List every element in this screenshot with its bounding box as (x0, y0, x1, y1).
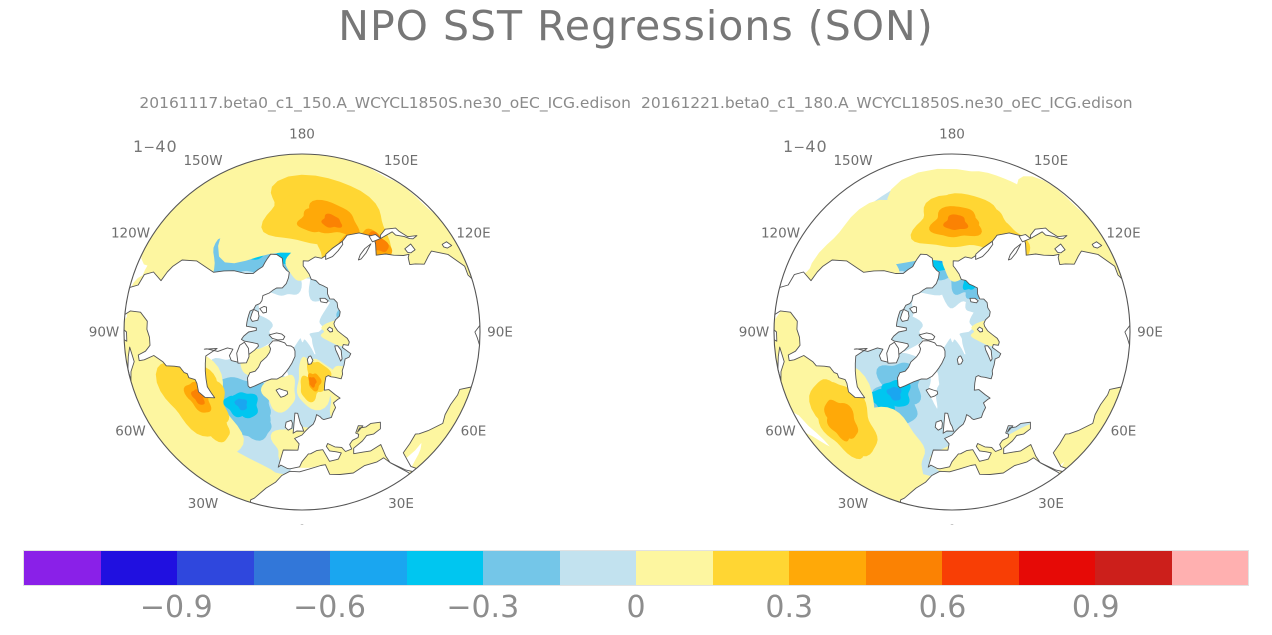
colorbar-swatch-2 (177, 551, 254, 585)
colorbar-swatch-7 (560, 551, 637, 585)
colorbar-swatch-11 (866, 551, 943, 585)
subtitle-right-case: 20161221.beta0_c1_180.A_WCYCL1850S.ne30_… (641, 94, 1133, 112)
lon-label-150E: 150E (384, 153, 418, 169)
colorbar-swatch-0 (24, 551, 101, 585)
map-panel-left: 1‒40 180150W120W90W60W30W030E60E90E120E1… (5, 125, 605, 525)
lon-label-90W: 90W (89, 325, 120, 341)
lon-label-120E: 120E (1106, 226, 1140, 242)
map-panel-right: 1‒40 180150W120W90W60W30W030E60E90E120E1… (655, 125, 1255, 525)
colorbar-swatch-14 (1095, 551, 1172, 585)
colorbar-tick-3: 0 (626, 590, 645, 625)
page-title: NPO SST Regressions (SON) (0, 2, 1272, 50)
polar-map-right: 180150W120W90W60W30W030E60E90E120E150E (655, 125, 1255, 525)
colorbar-tick-0: −0.9 (140, 590, 213, 625)
lon-label-30W: 30W (838, 496, 869, 512)
colorbar-swatch-6 (483, 551, 560, 585)
lon-label-120W: 120W (761, 226, 800, 242)
lon-label-180: 180 (939, 127, 965, 143)
lon-label-150W: 150W (833, 153, 872, 169)
lon-label-30E: 30E (388, 496, 414, 512)
colorbar: −0.9−0.6−0.300.30.60.9 (0, 546, 1272, 626)
lon-label-60W: 60W (115, 424, 146, 440)
lon-label-90W: 90W (739, 325, 770, 341)
colorbar-swatch-12 (942, 551, 1019, 585)
colorbar-swatch-3 (254, 551, 331, 585)
colorbar-tick-4: 0.3 (765, 590, 813, 625)
colorbar-tick-2: −0.3 (446, 590, 519, 625)
lon-label-150W: 150W (183, 153, 222, 169)
lon-label-60E: 60E (461, 424, 487, 440)
lon-label-0: 0 (298, 523, 307, 526)
lon-label-30W: 30W (188, 496, 219, 512)
colorbar-tick-5: 0.6 (919, 590, 967, 625)
lon-label-30E: 30E (1038, 496, 1064, 512)
colorbar-tick-1: −0.6 (293, 590, 366, 625)
subtitle-left-case: 20161117.beta0_c1_150.A_WCYCL1850S.ne30_… (139, 94, 631, 112)
lon-label-90E: 90E (1137, 325, 1163, 341)
colorbar-swatch-15 (1172, 551, 1249, 585)
lon-label-180: 180 (289, 127, 315, 143)
colorbar-tick-6: 0.9 (1072, 590, 1120, 625)
subtitle-row: 20161117.beta0_c1_150.A_WCYCL1850S.ne30_… (0, 94, 1272, 112)
colorbar-swatch-13 (1019, 551, 1096, 585)
lon-label-120W: 120W (111, 226, 150, 242)
colorbar-swatch-1 (101, 551, 178, 585)
colorbar-swatch-10 (789, 551, 866, 585)
colorbar-swatches (23, 550, 1249, 586)
polar-map-left: 180150W120W90W60W30W030E60E90E120E150E (5, 125, 605, 525)
lon-label-120E: 120E (456, 226, 490, 242)
lon-label-60W: 60W (765, 424, 796, 440)
colorbar-swatch-9 (713, 551, 790, 585)
colorbar-swatch-4 (330, 551, 407, 585)
lon-label-60E: 60E (1111, 424, 1137, 440)
lon-label-90E: 90E (487, 325, 513, 341)
colorbar-tick-labels: −0.9−0.6−0.300.30.60.9 (23, 590, 1249, 624)
lon-label-150E: 150E (1034, 153, 1068, 169)
lon-label-0: 0 (948, 523, 957, 526)
colorbar-swatch-8 (636, 551, 713, 585)
colorbar-swatch-5 (407, 551, 484, 585)
